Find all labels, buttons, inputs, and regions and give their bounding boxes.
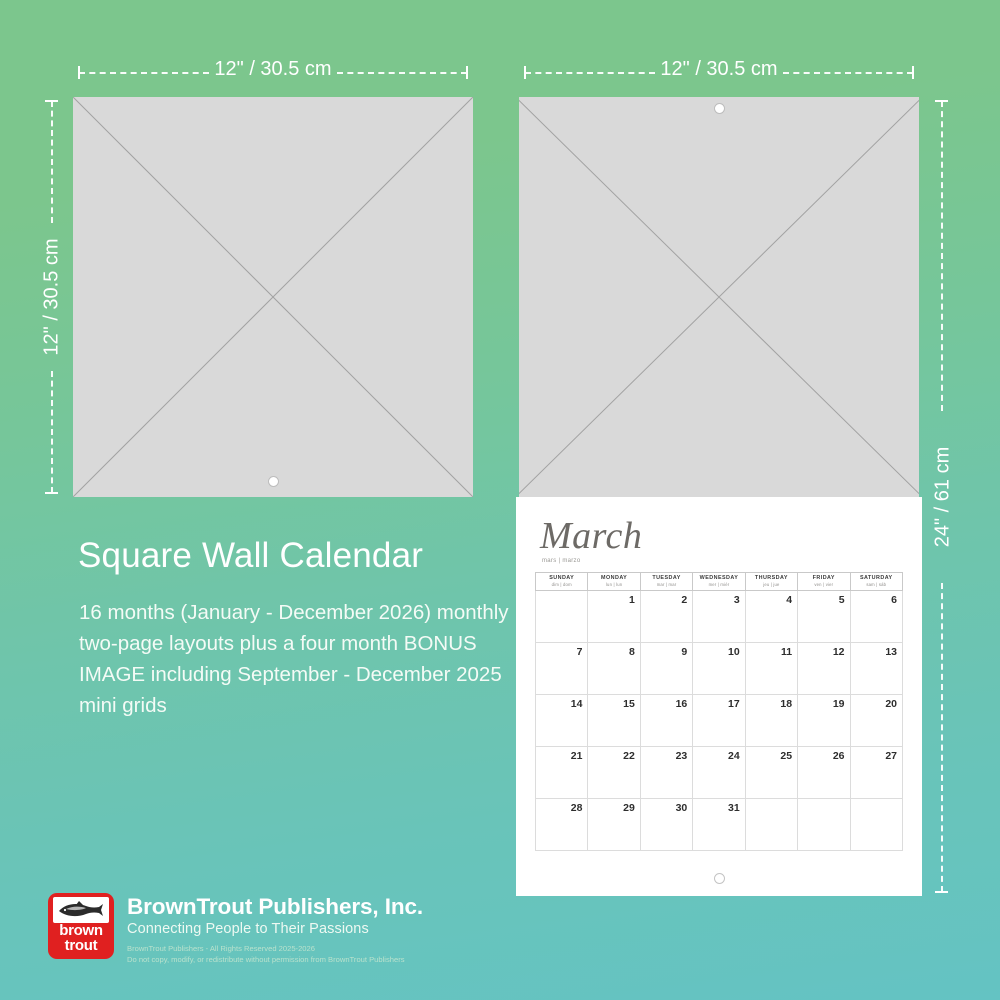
weekday-name: SATURDAY (851, 575, 902, 581)
calendar-weekday-header-wednesday: WEDNESDAYmer | miér (693, 573, 745, 591)
calendar-weekday-header-sunday: SUNDAYdim | dom (536, 573, 588, 591)
calendar-weekday-header-saturday: SATURDAYsam | sáb (850, 573, 902, 591)
calendar-day-cell[interactable]: 8 (588, 643, 640, 695)
calendar-day-cell[interactable]: 18 (745, 695, 797, 747)
dimension-cap (912, 66, 914, 79)
calendar-day-cell[interactable]: 30 (640, 799, 692, 851)
dimension-cap (45, 492, 58, 494)
calendar-day-cell[interactable]: 11 (745, 643, 797, 695)
calendar-day-cell[interactable]: 21 (536, 747, 588, 799)
calendar-empty-cell[interactable] (798, 799, 850, 851)
calendar-day-cell[interactable]: 22 (588, 747, 640, 799)
footer: brown trout BrownTrout Publishers, Inc. … (48, 893, 423, 965)
logo-word-trout: trout (48, 939, 114, 954)
weekday-name-localized: jeu | jue (746, 582, 797, 587)
calendar-day-cell[interactable]: 26 (798, 747, 850, 799)
calendar-day-cell[interactable]: 2 (640, 591, 692, 643)
calendar-day-cell[interactable]: 12 (798, 643, 850, 695)
footer-text-block: BrownTrout Publishers, Inc. Connecting P… (127, 893, 423, 965)
trout-fish-icon (53, 897, 109, 923)
weekday-name: THURSDAY (746, 575, 797, 581)
calendar-day-cell[interactable]: 15 (588, 695, 640, 747)
dimension-label-width-left: 12" / 30.5 cm (214, 58, 331, 81)
dimension-guide-left-height: 12" / 30.5 cm (40, 97, 64, 497)
calendar-day-cell[interactable]: 1 (588, 591, 640, 643)
dimension-cap (466, 66, 468, 79)
browntrout-logo: brown trout (48, 893, 114, 959)
calendar-day-cell[interactable]: 24 (693, 747, 745, 799)
weekday-name-localized: mer | miér (693, 582, 744, 587)
calendar-day-cell[interactable]: 3 (693, 591, 745, 643)
calendar-day-cell[interactable]: 28 (536, 799, 588, 851)
calendar-week-row: 14151617181920 (536, 695, 903, 747)
dimension-dash-line (783, 72, 913, 74)
calendar-weekday-header-thursday: THURSDAYjeu | jue (745, 573, 797, 591)
calendar-day-cell[interactable]: 16 (640, 695, 692, 747)
weekday-name: FRIDAY (798, 575, 849, 581)
legal-line-1: BrownTrout Publishers - All Rights Reser… (127, 944, 423, 955)
calendar-weekday-header-row: SUNDAYdim | domMONDAYlun | lunTUESDAYmar… (536, 573, 903, 591)
placeholder-diagonal-cross (519, 97, 919, 497)
hole-punch-icon (714, 873, 725, 884)
weekday-name-localized: sam | sáb (851, 582, 902, 587)
legal-line-2: Do not copy, modify, or redistribute wit… (127, 955, 423, 966)
calendar-day-cell[interactable]: 29 (588, 799, 640, 851)
product-description: 16 months (January - December 2026) mont… (79, 597, 524, 722)
dimension-cap (935, 891, 948, 893)
weekday-name-localized: lun | lun (588, 582, 639, 587)
page-title: Square Wall Calendar (78, 536, 423, 576)
weekday-name: TUESDAY (641, 575, 692, 581)
calendar-day-cell[interactable]: 13 (850, 643, 902, 695)
calendar-day-cell[interactable]: 31 (693, 799, 745, 851)
calendar-day-cell[interactable]: 25 (745, 747, 797, 799)
dimension-label-height-right: 24" / 61 cm (932, 446, 955, 546)
dimension-label-height-left: 12" / 30.5 cm (41, 238, 64, 355)
calendar-weekday-header-monday: MONDAYlun | lun (588, 573, 640, 591)
calendar-weekday-header-friday: FRIDAYven | vier (798, 573, 850, 591)
product-open-spread-image-panel (519, 97, 919, 497)
dimension-guide-top-right: 12" / 30.5 cm (519, 60, 919, 84)
calendar-week-row: 78910111213 (536, 643, 903, 695)
calendar-day-cell[interactable]: 20 (850, 695, 902, 747)
calendar-weekday-header-tuesday: TUESDAYmar | mar (640, 573, 692, 591)
hole-punch-icon (268, 476, 279, 487)
calendar-day-cell[interactable]: 23 (640, 747, 692, 799)
calendar-day-cell[interactable]: 4 (745, 591, 797, 643)
calendar-day-cell[interactable]: 14 (536, 695, 588, 747)
dimension-dash-line (525, 72, 655, 74)
calendar-day-cell[interactable]: 7 (536, 643, 588, 695)
calendar-day-cell[interactable]: 17 (693, 695, 745, 747)
weekday-name: SUNDAY (536, 575, 587, 581)
weekday-name-localized: ven | vier (798, 582, 849, 587)
dimension-guide-right-height: 24" / 61 cm (930, 97, 956, 896)
company-name: BrownTrout Publishers, Inc. (127, 895, 423, 920)
dimension-dash-line (51, 371, 53, 493)
weekday-name-localized: mar | mar (641, 582, 692, 587)
placeholder-diagonal-cross (73, 97, 473, 497)
dimension-dash-line (79, 72, 209, 74)
calendar-day-cell[interactable]: 9 (640, 643, 692, 695)
calendar-week-row: 123456 (536, 591, 903, 643)
calendar-day-cell[interactable]: 27 (850, 747, 902, 799)
calendar-week-row: 21222324252627 (536, 747, 903, 799)
dimension-label-width-right: 12" / 30.5 cm (660, 58, 777, 81)
calendar-empty-cell[interactable] (536, 591, 588, 643)
dimension-dash-line (941, 583, 943, 893)
calendar-month-grid: SUNDAYdim | domMONDAYlun | lunTUESDAYmar… (535, 572, 903, 851)
calendar-empty-cell[interactable] (850, 799, 902, 851)
dimension-dash-line (51, 101, 53, 223)
legal-notice: BrownTrout Publishers - All Rights Reser… (127, 944, 423, 966)
calendar-week-row: 28293031 (536, 799, 903, 851)
weekday-name: MONDAY (588, 575, 639, 581)
logo-wordmark: brown trout (48, 924, 114, 953)
calendar-day-cell[interactable]: 5 (798, 591, 850, 643)
hole-punch-icon (714, 103, 725, 114)
dimension-guide-top-left: 12" / 30.5 cm (73, 60, 473, 84)
calendar-day-cell[interactable]: 19 (798, 695, 850, 747)
calendar-day-cell[interactable]: 10 (693, 643, 745, 695)
calendar-day-cell[interactable]: 6 (850, 591, 902, 643)
dimension-dash-line (337, 72, 467, 74)
dimension-dash-line (941, 101, 943, 411)
company-tagline: Connecting People to Their Passions (127, 921, 423, 937)
calendar-grid-page: March mars | marzo SUNDAYdim | domMONDAY… (516, 497, 922, 896)
calendar-empty-cell[interactable] (745, 799, 797, 851)
weekday-name-localized: dim | dom (536, 582, 587, 587)
calendar-month-title: March (516, 497, 922, 555)
product-front-cover-panel (73, 97, 473, 497)
weekday-name: WEDNESDAY (693, 575, 744, 581)
